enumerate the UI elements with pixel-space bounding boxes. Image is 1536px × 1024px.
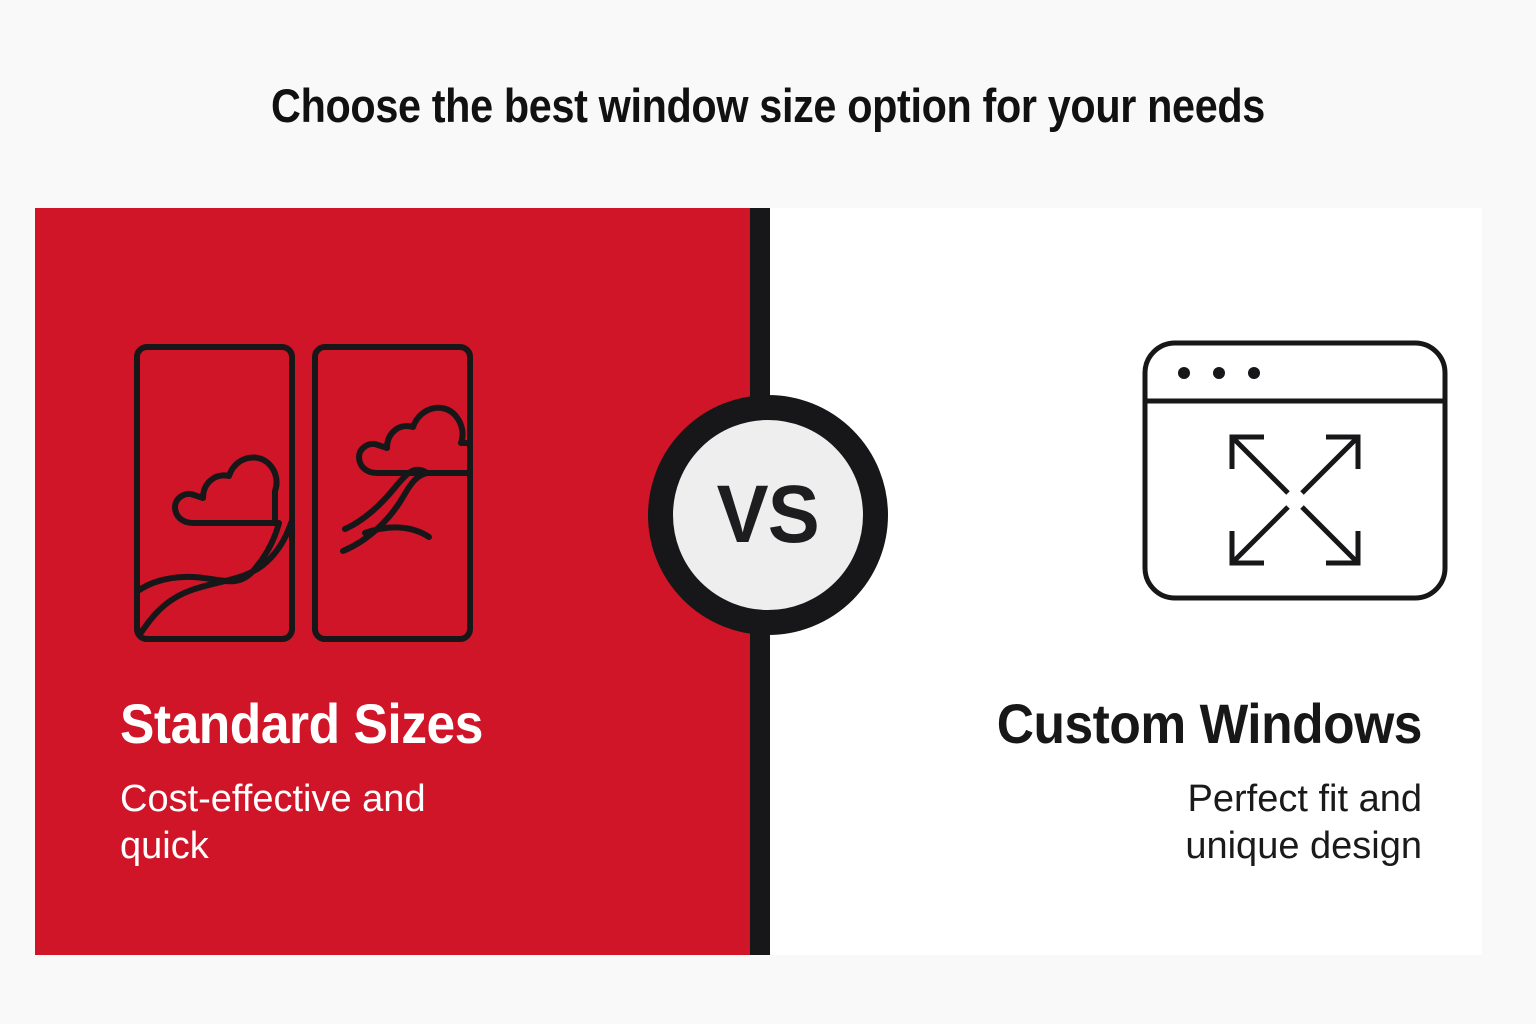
page-title: Choose the best window size option for y… xyxy=(92,78,1444,133)
panel-standard-subtitle-line1: Cost-effective and xyxy=(120,778,426,820)
browser-window-expand-arrows-icon xyxy=(1140,338,1450,613)
panel-custom-subtitle: Perfect fit and unique design xyxy=(822,776,1422,871)
comparison-board: Standard Sizes Cost-effective and quick xyxy=(35,208,1482,955)
panel-standard-subtitle: Cost-effective and quick xyxy=(120,776,680,871)
panel-standard-text: Standard Sizes Cost-effective and quick xyxy=(120,695,680,871)
panel-standard-sizes: Standard Sizes Cost-effective and quick xyxy=(35,208,750,955)
panel-standard-heading: Standard Sizes xyxy=(120,695,635,754)
panel-standard-subtitle-line2: quick xyxy=(120,825,209,867)
vs-label: VS xyxy=(717,474,819,556)
panel-custom-text: Custom Windows Perfect fit and unique de… xyxy=(822,695,1422,871)
panel-custom-subtitle-line2: unique design xyxy=(1185,825,1422,867)
panel-custom-heading: Custom Windows xyxy=(870,695,1422,754)
vs-badge: VS xyxy=(648,395,888,635)
panel-custom-subtitle-line1: Perfect fit and xyxy=(1188,778,1422,820)
two-window-panes-landscape-icon xyxy=(115,333,485,658)
panel-custom-windows: Custom Windows Perfect fit and unique de… xyxy=(770,208,1482,955)
